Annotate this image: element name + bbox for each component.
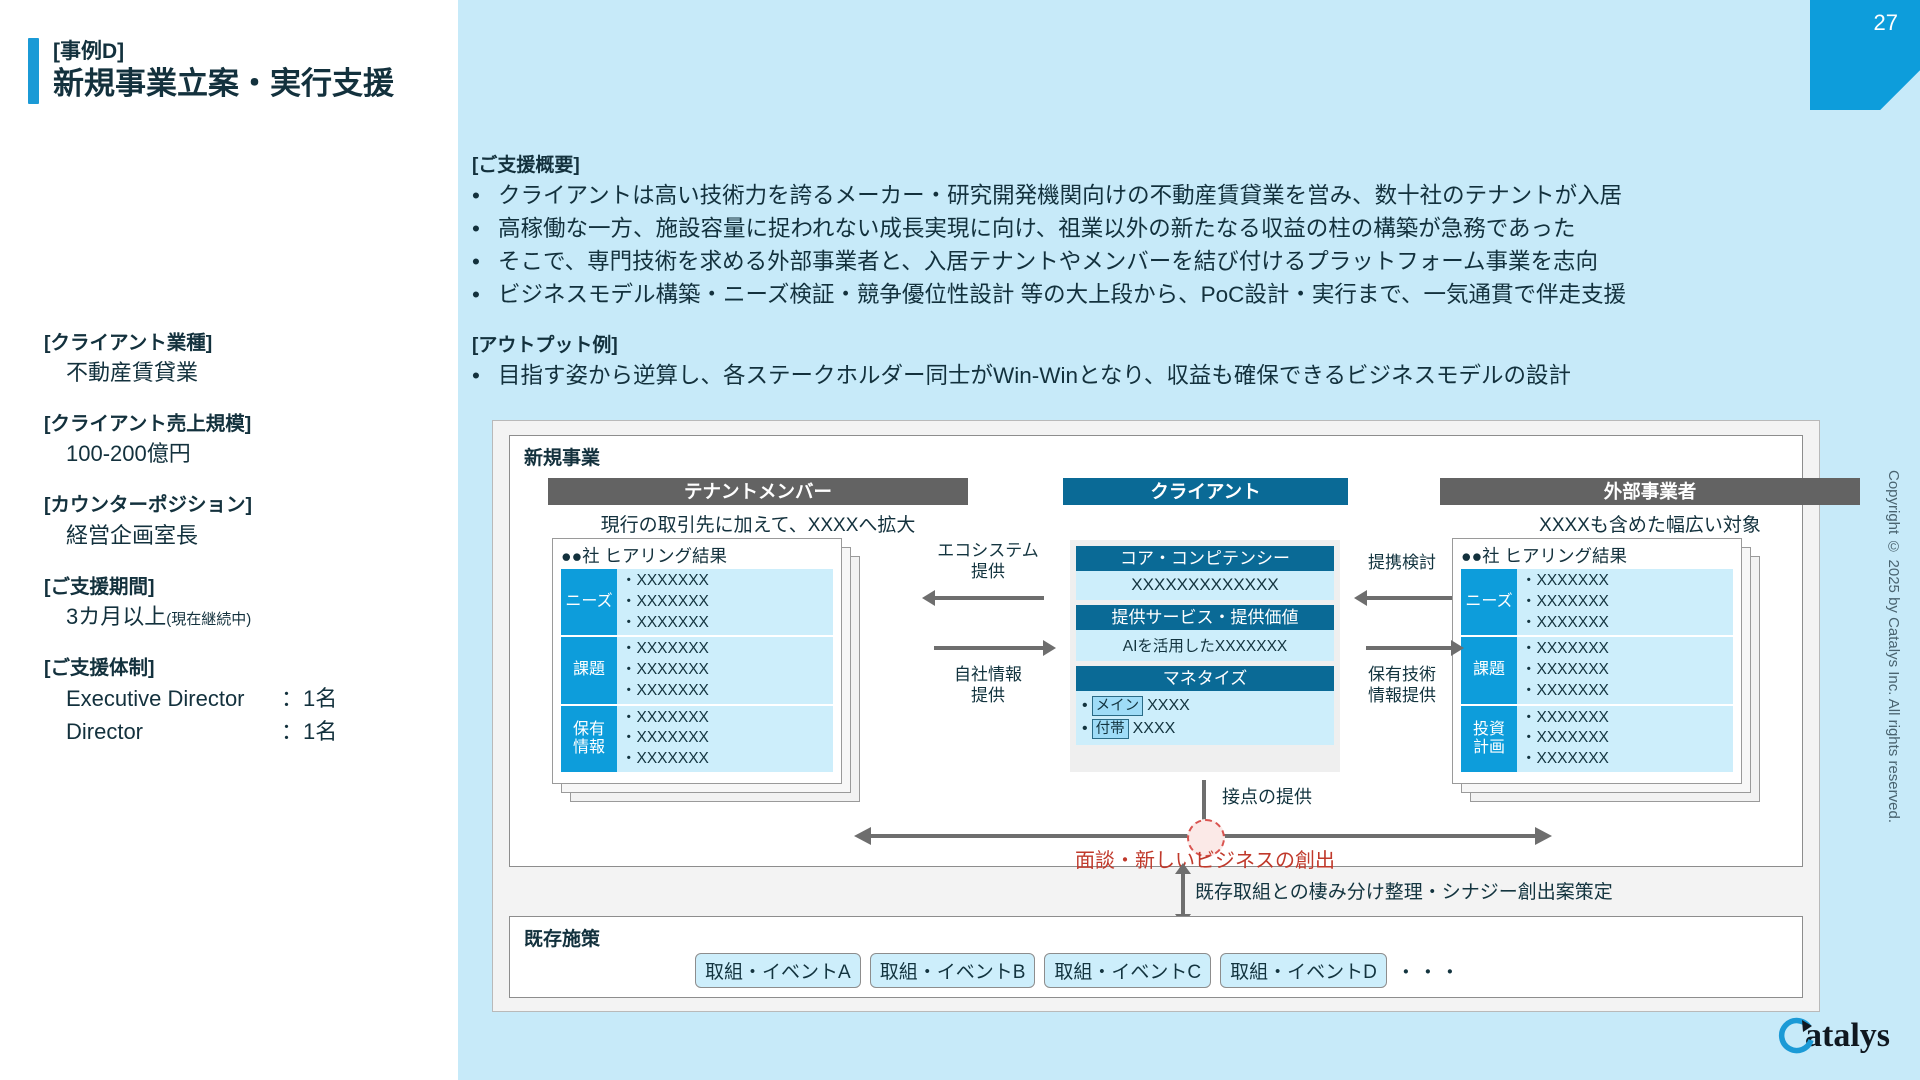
team-count: ：1名 (281, 715, 337, 748)
arrow-label-own-info: 自社情報 提供 (918, 664, 1058, 707)
new-business-box: 新規事業 テナントメンバー クライアント 外部事業者 現行の取引先に加えて、XX… (509, 435, 1803, 867)
meta-label: [カウンターポジション] (44, 492, 444, 519)
table-row: ニーズ ・XXXXXXX ・XXXXXXX ・XXXXXXX (561, 569, 833, 635)
row-value: ・XXXXXXX (1521, 681, 1733, 702)
column-header-external: 外部事業者 (1440, 478, 1860, 505)
page-corner-decoration (1810, 0, 1920, 110)
row-key-line: 計画 (1473, 739, 1505, 756)
bullet-text: そこで、専門技術を求める外部事業者と、入居テナントやメンバーを結び付けるプラット… (498, 246, 1598, 277)
row-value: ・XXXXXXX (621, 708, 833, 729)
arrow-ecosystem-left (934, 596, 1044, 600)
meeting-creation-label: 面談・新しいビジネスの創出 (1000, 844, 1410, 873)
bullet-text: ビジネスモデル構築・ニーズ検証・競争優位性設計 等の大上段から、PoC設計・実行… (498, 279, 1626, 310)
title-accent-bar (28, 38, 39, 104)
team-role: Executive Director (66, 682, 281, 715)
meta-label: [クライアント業種] (44, 330, 444, 357)
arrow-label-line: 自社情報 (918, 664, 1058, 685)
overview-heading: [ご支援概要] (472, 150, 1832, 177)
chip-event-b[interactable]: 取組・イベントB (870, 953, 1036, 988)
existing-measures-chips: 取組・イベントA 取組・イベントB 取組・イベントC 取組・イベントD ・・・ (695, 953, 1462, 988)
column-subtitle-external: XXXXも含めた幅広い対象 (1440, 510, 1860, 537)
arrow-label-line: 情報提供 (1352, 685, 1452, 706)
card-title: ●●社 ヒアリング結果 (1461, 543, 1627, 568)
service-value-body: AIを活用したXXXXXXX (1076, 630, 1334, 661)
bullet-dot: • (472, 180, 498, 211)
bullet-dot: • (1082, 694, 1088, 717)
row-value: ・XXXXXXX (1521, 728, 1733, 749)
business-model-diagram: 新規事業 テナントメンバー クライアント 外部事業者 現行の取引先に加えて、XX… (492, 420, 1820, 1012)
row-value: ・XXXXXXX (621, 613, 833, 634)
bullet-dot: • (472, 279, 498, 310)
existing-measures-box: 既存施策 取組・イベントA 取組・イベントB 取組・イベントC 取組・イベントD… (509, 916, 1803, 998)
case-label: [事例D] (53, 38, 394, 65)
meta-item-industry: [クライアント業種] 不動産賃貸業 (44, 330, 444, 389)
chips-ellipsis: ・・・ (1396, 956, 1462, 985)
bullet-text: 目指す姿から逆算し、各ステークホルダー同士がWin-Winとなり、収益も確保でき… (498, 360, 1571, 391)
row-key: 課題 (1461, 637, 1517, 703)
arrow-label-ecosystem: エコシステム 提供 (918, 540, 1058, 583)
meta-item-team: [ご支援体制] Executive Director ：1名 Director … (44, 655, 444, 748)
output-heading: [アウトプット例] (472, 330, 1832, 357)
row-value: ・XXXXXXX (1521, 613, 1733, 634)
row-value: ・XXXXXXX (1521, 639, 1733, 660)
arrow-touchpoint-down (1202, 780, 1206, 824)
row-key: 投資計画 (1461, 706, 1517, 772)
card-title: ●●社 ヒアリング結果 (561, 543, 727, 568)
service-value-header: 提供サービス・提供価値 (1076, 605, 1334, 630)
meta-value: 3カ月以上(現在継続中) (44, 601, 444, 633)
overview-bullet: •ビジネスモデル構築・ニーズ検証・競争優位性設計 等の大上段から、PoC設計・実… (472, 279, 1832, 310)
arrow-tech-info-right (1366, 646, 1452, 650)
column-header-tenant: テナントメンバー (548, 478, 968, 505)
row-value: ・XXXXXXX (621, 592, 833, 613)
arrow-label-line: 提供 (918, 561, 1058, 582)
monetize-item: • 付帯 XXXX (1082, 717, 1334, 740)
arrow-label-touchpoint: 接点の提供 (1222, 786, 1392, 809)
overview-bullet: •そこで、専門技術を求める外部事業者と、入居テナントやメンバーを結び付けるプラッ… (472, 246, 1832, 277)
arrow-label-line: エコシステム (918, 540, 1058, 561)
row-value: ・XXXXXXX (1521, 660, 1733, 681)
monetize-tag: メイン (1092, 696, 1144, 716)
bullet-dot: • (1082, 717, 1088, 740)
meta-value: 不動産賃貸業 (44, 357, 444, 389)
row-key: ニーズ (1461, 569, 1517, 635)
table-row: 保有情報 ・XXXXXXX ・XXXXXXX ・XXXXXXX (561, 706, 833, 772)
row-key-line: 保有 (573, 721, 605, 738)
catalys-logo: atalys (1775, 1014, 1890, 1058)
bullet-text: クライアントは高い技術力を誇るメーカー・研究開発機関向けの不動産賃貸業を営み、数… (498, 180, 1622, 211)
overview-bullet: •高稼働な一方、施設容量に捉われない成長実現に向け、祖業以外の新たなる収益の柱の… (472, 213, 1832, 244)
page-number: 27 (1874, 10, 1898, 36)
monetize-item: • メイン XXXX (1082, 694, 1334, 717)
meta-item-counterpart: [カウンターポジション] 経営企画室長 (44, 492, 444, 551)
meta-value: 経営企画室長 (44, 520, 444, 552)
row-value: ・XXXXXXX (621, 639, 833, 660)
monetize-list: • メイン XXXX • 付帯 XXXX (1076, 691, 1334, 745)
row-key: 保有情報 (561, 706, 617, 772)
new-business-title: 新規事業 (524, 443, 600, 470)
row-value: ・XXXXXXX (621, 681, 833, 702)
meta-item-period: [ご支援期間] 3カ月以上(現在継続中) (44, 574, 444, 633)
output-bullet: •目指す姿から逆算し、各ステークホルダー同士がWin-Winとなり、収益も確保で… (472, 360, 1832, 391)
bullet-dot: • (472, 213, 498, 244)
bullet-dot: • (472, 246, 498, 277)
bullet-text: 高稼働な一方、施設容量に捉われない成長実現に向け、祖業以外の新たなる収益の柱の構… (498, 213, 1576, 244)
row-value: ・XXXXXXX (1521, 592, 1733, 613)
meta-item-revenue: [クライアント売上規模] 100-200億円 (44, 411, 444, 470)
column-subtitle-tenant: 現行の取引先に加えて、XXXXへ拡大 (548, 510, 968, 537)
team-role: Director (66, 715, 281, 748)
arrow-label-line: 保有技術 (1352, 664, 1452, 685)
external-hearing-card-stack: ●●社 ヒアリング結果 ニーズ ・XXXXXXX ・XXXXXXX ・XXXXX… (1452, 538, 1760, 802)
table-row: 投資計画 ・XXXXXXX ・XXXXXXX ・XXXXXXX (1461, 706, 1733, 772)
table-row: 課題 ・XXXXXXX ・XXXXXXX ・XXXXXXX (561, 637, 833, 703)
table-row: 課題 ・XXXXXXX ・XXXXXXX ・XXXXXXX (1461, 637, 1733, 703)
tenant-hearing-card: ●●社 ヒアリング結果 ニーズ ・XXXXXXX ・XXXXXXX ・XXXXX… (552, 538, 842, 784)
row-value: ・XXXXXXX (1521, 571, 1733, 592)
monetize-header: マネタイズ (1076, 666, 1334, 691)
monetize-text: XXXX (1133, 717, 1176, 740)
meta-label: [クライアント売上規模] (44, 411, 444, 438)
row-key: ニーズ (561, 569, 617, 635)
period-note: (現在継続中) (166, 611, 251, 628)
team-count: ：1名 (281, 682, 337, 715)
row-value: ・XXXXXXX (621, 728, 833, 749)
arrow-alliance-left (1366, 596, 1452, 600)
column-header-client: クライアント (1063, 478, 1348, 505)
bullet-dot: • (472, 360, 498, 391)
row-value: ・XXXXXXX (621, 749, 833, 770)
arrow-label-synergy: 既存取組との棲み分け整理・シナジー創出案策定 (1195, 877, 1613, 904)
slide-title: [事例D] 新規事業立案・実行支援 (28, 38, 394, 104)
client-meta-list: [クライアント業種] 不動産賃貸業 [クライアント売上規模] 100-200億円… (44, 330, 444, 770)
core-competency-body: XXXXXXXXXXXXX (1076, 571, 1334, 600)
meta-label: [ご支援体制] (44, 655, 444, 682)
external-card-table: ニーズ ・XXXXXXX ・XXXXXXX ・XXXXXXX 課題 ・XXXXX… (1461, 569, 1733, 774)
team-row: Director ：1名 (44, 715, 444, 748)
team-row: Executive Director ：1名 (44, 682, 444, 715)
core-competency-header: コア・コンピテンシー (1076, 546, 1334, 571)
arrow-own-info-right (934, 646, 1044, 650)
row-value: ・XXXXXXX (1521, 708, 1733, 729)
row-key: 課題 (561, 637, 617, 703)
chip-event-d[interactable]: 取組・イベントD (1220, 953, 1387, 988)
monetize-text: XXXX (1147, 694, 1190, 717)
chip-event-a[interactable]: 取組・イベントA (695, 953, 861, 988)
existing-measures-title: 既存施策 (524, 924, 600, 951)
row-key-line: 投資 (1473, 721, 1505, 738)
tenant-hearing-card-stack: ●●社 ヒアリング結果 ニーズ ・XXXXXXX ・XXXXXXX ・XXXXX… (552, 538, 860, 802)
table-row: ニーズ ・XXXXXXX ・XXXXXXX ・XXXXXXX (1461, 569, 1733, 635)
external-hearing-card: ●●社 ヒアリング結果 ニーズ ・XXXXXXX ・XXXXXXX ・XXXXX… (1452, 538, 1742, 784)
arrow-between-boxes (1181, 873, 1185, 915)
client-card: コア・コンピテンシー XXXXXXXXXXXXX 提供サービス・提供価値 AIを… (1070, 540, 1340, 772)
meta-label: [ご支援期間] (44, 574, 444, 601)
overview-bullet: •クライアントは高い技術力を誇るメーカー・研究開発機関向けの不動産賃貸業を営み、… (472, 180, 1832, 211)
arrow-label-line: 提供 (918, 685, 1058, 706)
meta-value: 100-200億円 (44, 438, 444, 470)
row-key-line: 情報 (573, 739, 605, 756)
arrow-label-tech-info: 保有技術 情報提供 (1352, 664, 1452, 707)
arrow-label-alliance: 提携検討 (1352, 552, 1452, 573)
overview-section: [ご支援概要] •クライアントは高い技術力を誇るメーカー・研究開発機関向けの不動… (472, 150, 1832, 393)
period-main: 3カ月以上 (66, 604, 166, 629)
slide: 27 [事例D] 新規事業立案・実行支援 [クライアント業種] 不動産賃貸業 [… (0, 0, 1920, 1080)
row-value: ・XXXXXXX (1521, 749, 1733, 770)
tenant-card-table: ニーズ ・XXXXXXX ・XXXXXXX ・XXXXXXX 課題 ・XXXXX… (561, 569, 833, 774)
copyright-text: Copyright © 2025 by Catalys Inc. All rig… (1885, 470, 1902, 823)
row-value: ・XXXXXXX (621, 571, 833, 592)
chip-event-c[interactable]: 取組・イベントC (1044, 953, 1211, 988)
row-value: ・XXXXXXX (621, 660, 833, 681)
monetize-tag: 付帯 (1092, 719, 1129, 739)
logo-c-icon (1775, 1014, 1819, 1058)
page-title: 新規事業立案・実行支援 (53, 65, 394, 104)
